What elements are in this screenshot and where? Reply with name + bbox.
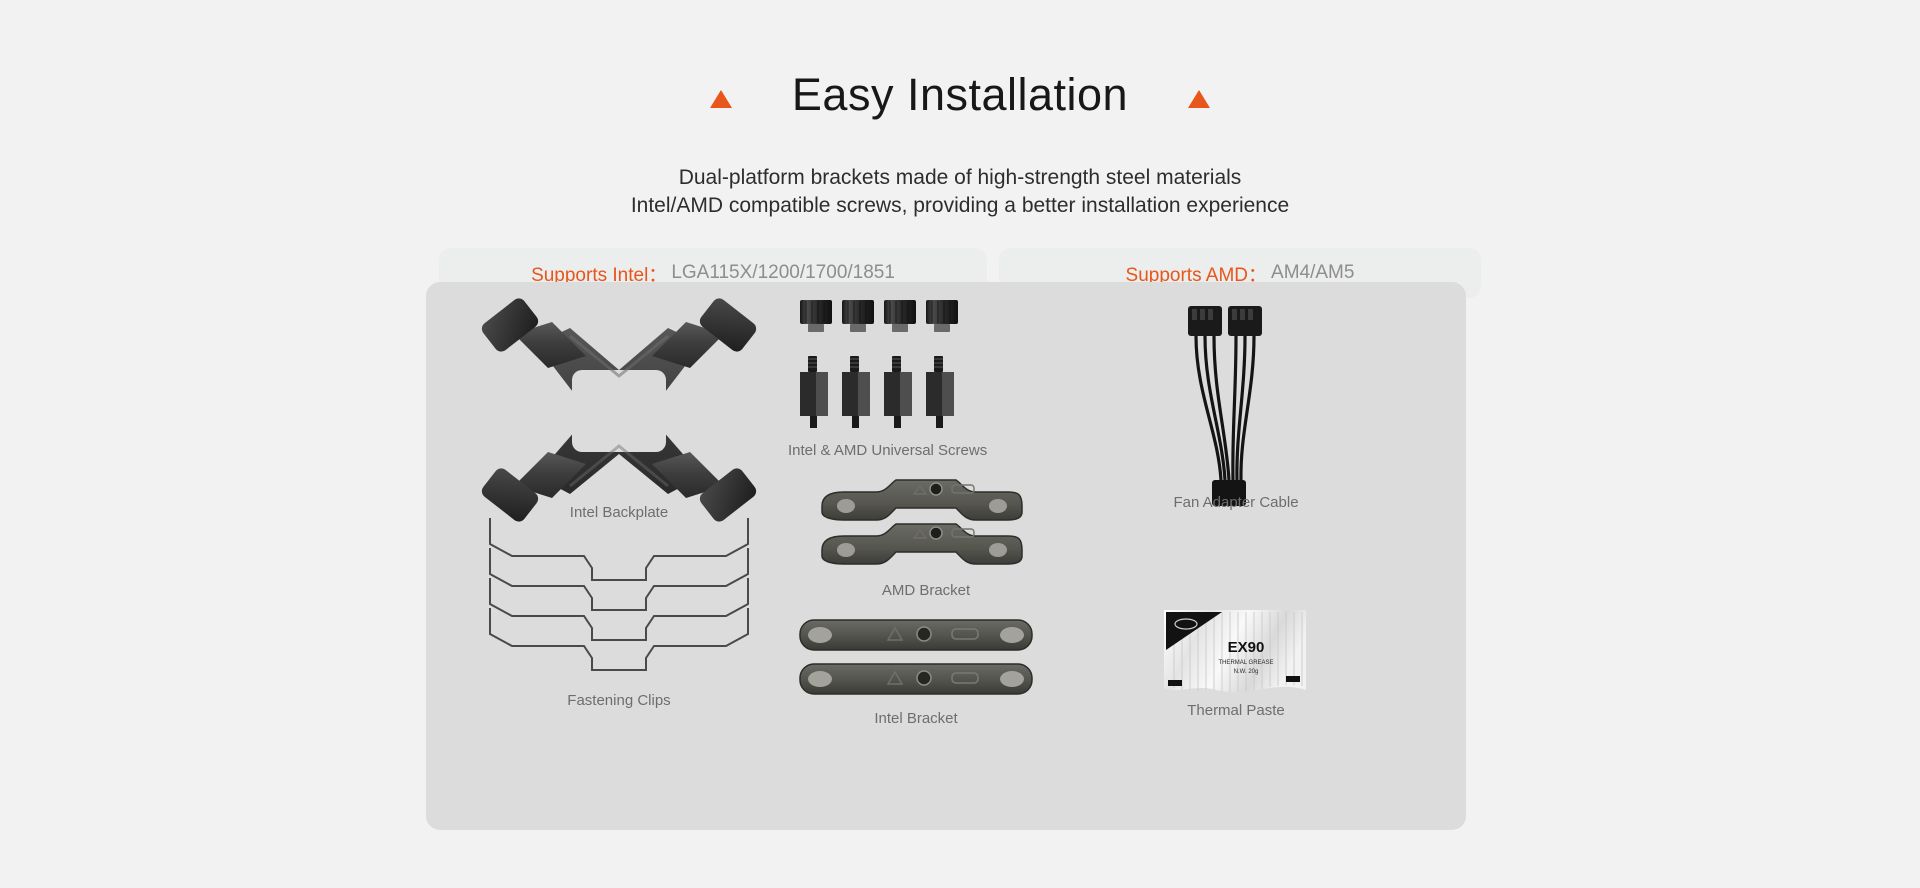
part-fan-adapter-cable: Fan Adapter Cable (1126, 302, 1346, 532)
amd-bracket-illustration (816, 472, 1036, 572)
hex-standoff-group (800, 356, 954, 428)
fastening-clips-illustration (474, 514, 764, 682)
subtitle-block: Dual-platform brackets made of high-stre… (0, 164, 1920, 221)
caption-fastening-clips: Fastening Clips (474, 692, 764, 709)
header-section: Easy Installation Dual-platform brackets… (0, 0, 1920, 220)
fan-adapter-cable-illustration (1126, 302, 1346, 508)
subtitle-line-2: Intel/AMD compatible screws, providing a… (0, 192, 1920, 220)
part-intel-backplate: Intel Backplate (474, 304, 764, 534)
part-thermal-paste: EX90 THERMAL GREASE N.W. 20g Thermal Pas… (1126, 602, 1346, 732)
page-title: Easy Installation (792, 70, 1128, 120)
caption-thermal-paste: Thermal Paste (1126, 702, 1346, 719)
caption-intel-bracket: Intel Bracket (796, 710, 1036, 727)
part-intel-bracket: Intel Bracket (796, 614, 1086, 734)
triangle-up-icon-right (1188, 90, 1210, 108)
title-row: Easy Installation (0, 40, 1920, 150)
part-universal-screws: Intel & AMD Universal Screws (796, 300, 1086, 480)
part-fastening-clips: Fastening Clips (474, 514, 764, 714)
subtitle-line-1: Dual-platform brackets made of high-stre… (0, 164, 1920, 192)
intel-backplate-illustration (474, 304, 764, 516)
thermal-paste-product: THERMAL GREASE (1218, 660, 1273, 666)
intel-bracket-illustration (796, 614, 1086, 706)
caption-fan-adapter-cable: Fan Adapter Cable (1126, 494, 1346, 511)
caption-amd-bracket: AMD Bracket (816, 582, 1036, 599)
universal-screws-illustration (796, 300, 1086, 436)
triangle-up-icon-left (710, 90, 732, 108)
product-feature-page: Easy Installation Dual-platform brackets… (0, 0, 1920, 888)
thermal-paste-illustration: EX90 THERMAL GREASE N.W. 20g (1126, 602, 1346, 702)
thermal-paste-brand: EX90 (1228, 639, 1265, 656)
accessories-panel: Intel Backplate (426, 282, 1466, 830)
thermal-paste-weight: N.W. 20g (1234, 669, 1259, 675)
part-amd-bracket: AMD Bracket (816, 472, 1036, 592)
caption-universal-screws: Intel & AMD Universal Screws (788, 442, 968, 459)
thumb-nut-group (800, 300, 958, 332)
